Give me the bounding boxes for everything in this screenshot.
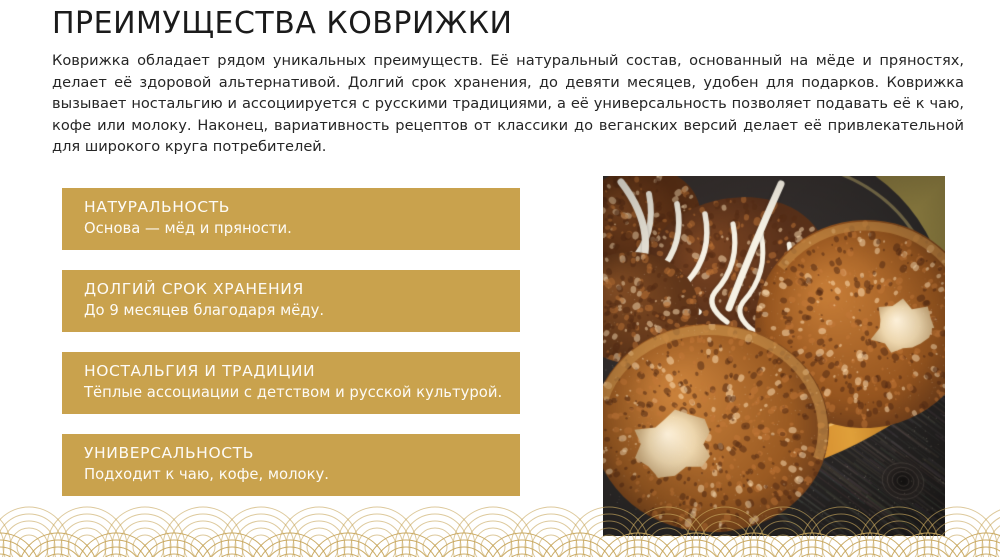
benefit-card-description: Тёплые ассоциации с детством и русской к…: [62, 382, 520, 403]
slide-root: ПРЕИМУЩЕСТВА КОВРИЖКИ Коврижка обладает …: [0, 0, 1000, 557]
benefit-card-description: Подходит к чаю, кофе, молоку.: [62, 464, 520, 485]
intro-paragraph: Коврижка обладает рядом уникальных преим…: [52, 50, 964, 158]
benefit-card: НАТУРАЛЬНОСТЬ Основа — мёд и пряности.: [62, 188, 520, 250]
benefit-card: ДОЛГИЙ СРОК ХРАНЕНИЯ До 9 месяцев благод…: [62, 270, 520, 332]
page-title: ПРЕИМУЩЕСТВА КОВРИЖКИ: [52, 6, 512, 42]
benefit-card-description: Основа — мёд и пряности.: [62, 218, 520, 239]
benefit-card-list: НАТУРАЛЬНОСТЬ Основа — мёд и пряности. Д…: [62, 188, 520, 496]
benefit-card-title: ДОЛГИЙ СРОК ХРАНЕНИЯ: [62, 278, 520, 300]
benefit-card-title: НАТУРАЛЬНОСТЬ: [62, 196, 520, 218]
product-photo-canvas: [603, 176, 945, 536]
benefit-card-title: НОСТАЛЬГИЯ И ТРАДИЦИИ: [62, 360, 520, 382]
product-photo: [603, 176, 945, 536]
benefit-card-description: До 9 месяцев благодаря мёду.: [62, 300, 520, 321]
benefit-card: НОСТАЛЬГИЯ И ТРАДИЦИИ Тёплые ассоциации …: [62, 352, 520, 414]
benefit-card: УНИВЕРСАЛЬНОСТЬ Подходит к чаю, кофе, мо…: [62, 434, 520, 496]
benefit-card-title: УНИВЕРСАЛЬНОСТЬ: [62, 442, 520, 464]
